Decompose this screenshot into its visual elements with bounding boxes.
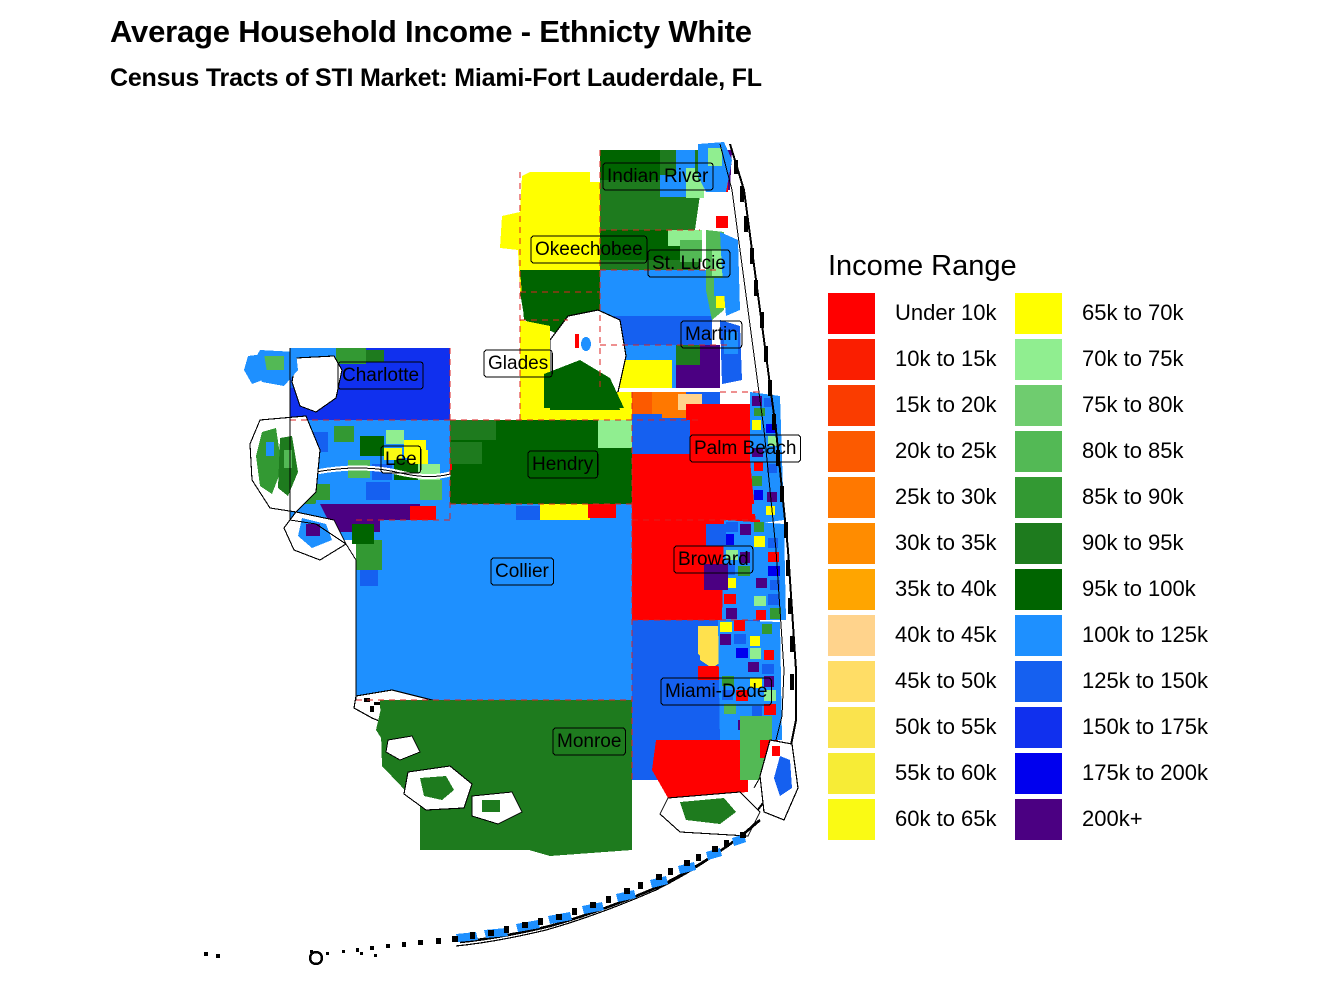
legend-swatch bbox=[1015, 569, 1062, 610]
legend-column-right: 65k to 70k70k to 75k75k to 80k80k to 85k… bbox=[1015, 290, 1208, 842]
page-title: Average Household Income - Ethnicty Whit… bbox=[110, 14, 752, 50]
county-label: Monroe bbox=[553, 728, 625, 755]
legend-label: 95k to 100k bbox=[1082, 578, 1196, 600]
county-label: Charlotte bbox=[338, 362, 423, 389]
legend-swatch bbox=[1015, 615, 1062, 656]
legend-item: 80k to 85k bbox=[1015, 428, 1208, 474]
legend-label: 45k to 50k bbox=[895, 670, 997, 692]
legend-swatch bbox=[1015, 799, 1062, 840]
legend-label: 60k to 65k bbox=[895, 808, 997, 830]
legend: Income Range Under 10k10k to 15k15k to 2… bbox=[820, 240, 1290, 860]
legend-label: 85k to 90k bbox=[1082, 486, 1184, 508]
legend-item: 85k to 90k bbox=[1015, 474, 1208, 520]
legend-label: 35k to 40k bbox=[895, 578, 997, 600]
legend-swatch bbox=[828, 477, 875, 518]
legend-swatch bbox=[1015, 431, 1062, 472]
county-label-text: Hendry bbox=[532, 454, 594, 475]
legend-label: 75k to 80k bbox=[1082, 394, 1184, 416]
county-label-text: Collier bbox=[495, 561, 550, 582]
legend-swatch bbox=[828, 569, 875, 610]
legend-item: 175k to 200k bbox=[1015, 750, 1208, 796]
legend-swatch bbox=[1015, 293, 1062, 334]
legend-label: 70k to 75k bbox=[1082, 348, 1184, 370]
county-label: Broward bbox=[674, 546, 753, 573]
legend-item: 150k to 175k bbox=[1015, 704, 1208, 750]
county-label-text: Monroe bbox=[557, 731, 621, 752]
legend-item: 50k to 55k bbox=[828, 704, 997, 750]
county-label-text: Glades bbox=[488, 353, 548, 374]
legend-label: 200k+ bbox=[1082, 808, 1143, 830]
legend-item: 90k to 95k bbox=[1015, 520, 1208, 566]
legend-label: 150k to 175k bbox=[1082, 716, 1208, 738]
legend-item: 40k to 45k bbox=[828, 612, 997, 658]
legend-column-left: Under 10k10k to 15k15k to 20k20k to 25k2… bbox=[828, 290, 997, 842]
legend-swatch bbox=[1015, 477, 1062, 518]
legend-item: 45k to 50k bbox=[828, 658, 997, 704]
county-label: Okeechobee bbox=[531, 236, 647, 263]
legend-item: 60k to 65k bbox=[828, 796, 997, 842]
legend-label: 25k to 30k bbox=[895, 486, 997, 508]
legend-swatch bbox=[828, 293, 875, 334]
legend-label: 65k to 70k bbox=[1082, 302, 1184, 324]
county-label: Hendry bbox=[528, 451, 598, 478]
legend-label: 90k to 95k bbox=[1082, 532, 1184, 554]
county-label-text: Martin bbox=[685, 324, 738, 345]
county-label: Indian River bbox=[603, 163, 713, 190]
legend-swatch bbox=[828, 431, 875, 472]
legend-item: Under 10k bbox=[828, 290, 997, 336]
county-label-text: St. Lucie bbox=[652, 253, 726, 274]
legend-label: 15k to 20k bbox=[895, 394, 997, 416]
legend-label: 100k to 125k bbox=[1082, 624, 1208, 646]
legend-swatch bbox=[1015, 339, 1062, 380]
legend-label: 80k to 85k bbox=[1082, 440, 1184, 462]
legend-item: 125k to 150k bbox=[1015, 658, 1208, 704]
legend-item: 75k to 80k bbox=[1015, 382, 1208, 428]
legend-item: 20k to 25k bbox=[828, 428, 997, 474]
legend-item: 200k+ bbox=[1015, 796, 1208, 842]
legend-label: 55k to 60k bbox=[895, 762, 997, 784]
legend-swatch bbox=[828, 799, 875, 840]
county-label: Palm Beach bbox=[690, 435, 801, 462]
county-label-text: Indian River bbox=[607, 166, 709, 187]
legend-label: 10k to 15k bbox=[895, 348, 997, 370]
legend-item: 65k to 70k bbox=[1015, 290, 1208, 336]
legend-item: 95k to 100k bbox=[1015, 566, 1208, 612]
legend-label: 50k to 55k bbox=[895, 716, 997, 738]
legend-swatch bbox=[828, 753, 875, 794]
county-label: Glades bbox=[484, 350, 552, 377]
choropleth-map: Indian River Okeechobee St. Lucie Martin… bbox=[120, 120, 820, 980]
county-label: Lee bbox=[381, 446, 421, 473]
county-label-text: Palm Beach bbox=[694, 438, 796, 459]
legend-item: 10k to 15k bbox=[828, 336, 997, 382]
county-label-text: Miami-Dade bbox=[665, 681, 767, 702]
legend-title: Income Range bbox=[828, 250, 1017, 283]
county-label-text: Lee bbox=[385, 449, 417, 470]
legend-swatch bbox=[828, 339, 875, 380]
county-label: St. Lucie bbox=[648, 250, 730, 277]
page-subtitle: Census Tracts of STI Market: Miami-Fort … bbox=[110, 64, 762, 93]
legend-item: 15k to 20k bbox=[828, 382, 997, 428]
county-label-text: Okeechobee bbox=[535, 239, 643, 260]
county-label: Martin bbox=[681, 321, 742, 348]
legend-item: 55k to 60k bbox=[828, 750, 997, 796]
legend-label: 125k to 150k bbox=[1082, 670, 1208, 692]
legend-swatch bbox=[828, 661, 875, 702]
legend-swatch bbox=[1015, 707, 1062, 748]
legend-label: 20k to 25k bbox=[895, 440, 997, 462]
county-label-text: Charlotte bbox=[342, 365, 419, 386]
legend-swatch bbox=[828, 385, 875, 426]
legend-swatch bbox=[1015, 753, 1062, 794]
legend-swatch bbox=[828, 523, 875, 564]
legend-item: 70k to 75k bbox=[1015, 336, 1208, 382]
legend-swatch bbox=[1015, 523, 1062, 564]
legend-label: 175k to 200k bbox=[1082, 762, 1208, 784]
county-label: Miami-Dade bbox=[661, 678, 771, 705]
legend-swatch bbox=[828, 615, 875, 656]
legend-item: 100k to 125k bbox=[1015, 612, 1208, 658]
county-label-text: Broward bbox=[678, 549, 749, 570]
legend-label: 30k to 35k bbox=[895, 532, 997, 554]
legend-label: Under 10k bbox=[895, 302, 997, 324]
legend-item: 25k to 30k bbox=[828, 474, 997, 520]
legend-swatch bbox=[828, 707, 875, 748]
legend-swatch bbox=[1015, 385, 1062, 426]
legend-item: 30k to 35k bbox=[828, 520, 997, 566]
legend-swatch bbox=[1015, 661, 1062, 702]
legend-item: 35k to 40k bbox=[828, 566, 997, 612]
legend-label: 40k to 45k bbox=[895, 624, 997, 646]
county-label: Collier bbox=[491, 558, 554, 585]
